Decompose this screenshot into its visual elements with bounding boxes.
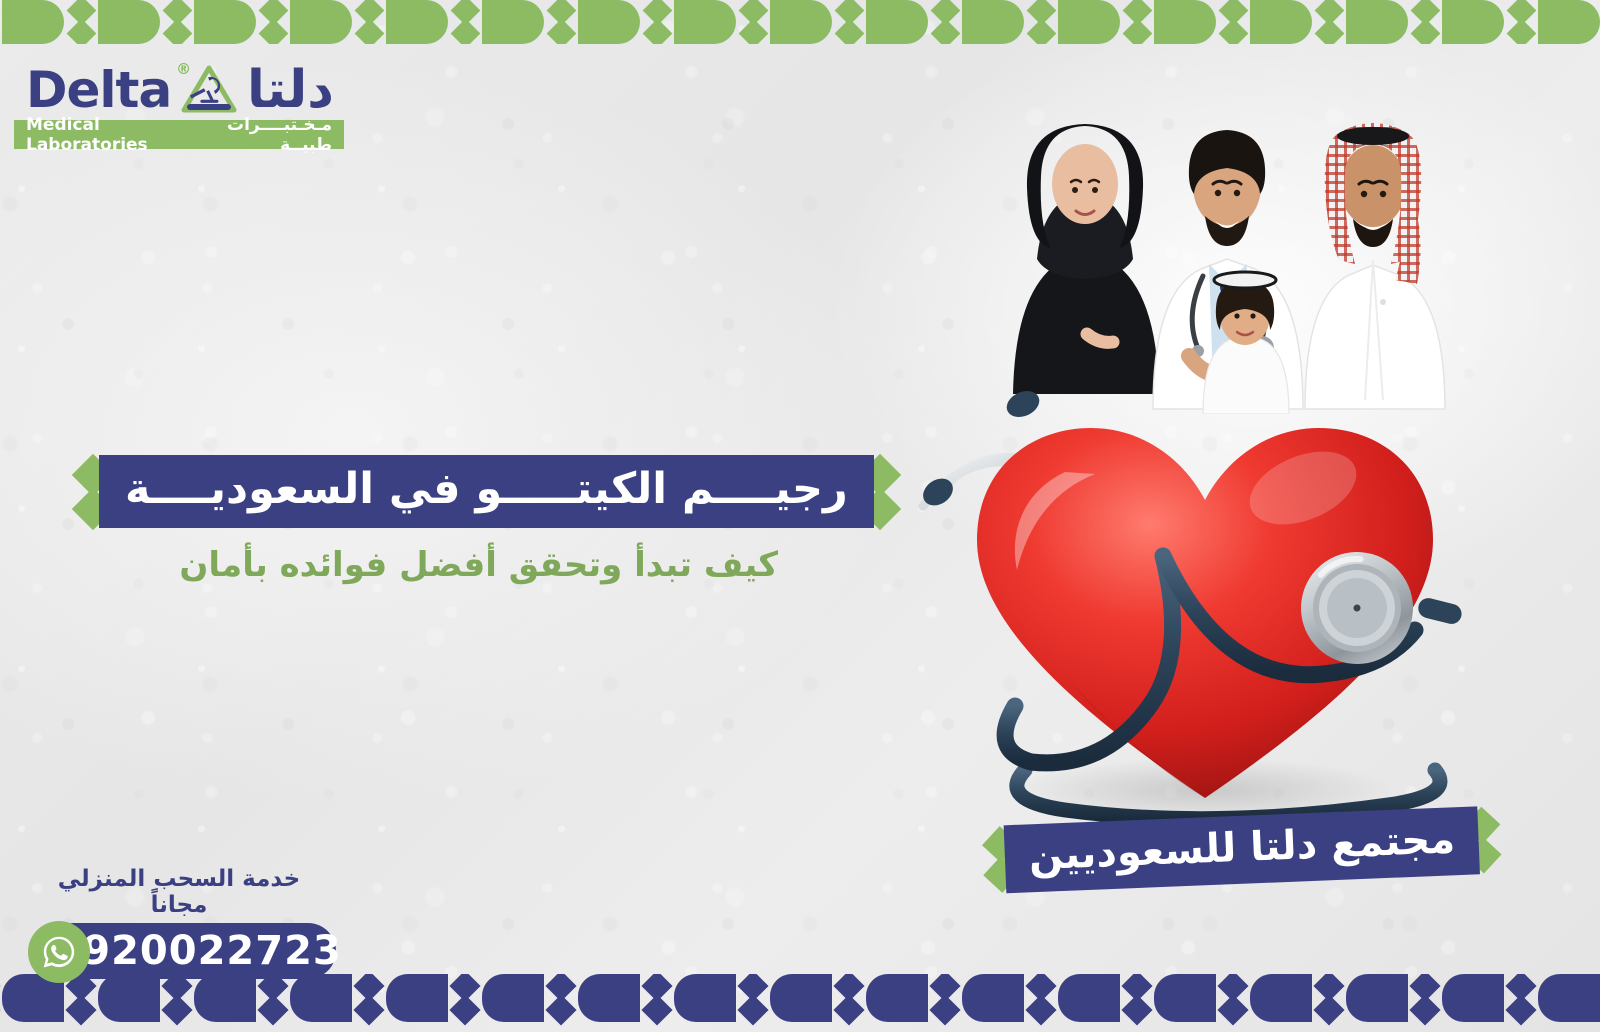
border-motif-diamonds (64, 0, 98, 44)
border-motif-diamonds (160, 974, 194, 1022)
border-motif-block (674, 0, 736, 44)
whatsapp-icon[interactable] (28, 921, 90, 983)
border-motif-diamonds (1216, 0, 1250, 44)
border-motif-diamond (0, 994, 1, 1025)
border-motif-diamond (546, 19, 576, 44)
logo-tagline-english: Medical Laboratories (26, 115, 195, 155)
top-decorative-border (0, 0, 1600, 44)
border-motif-diamonds (1312, 974, 1346, 1022)
border-motif-diamonds (1504, 0, 1538, 44)
border-motif-diamonds (1120, 0, 1154, 44)
border-motif-block (98, 0, 160, 44)
border-motif-diamonds (352, 0, 386, 44)
border-motif-diamond (258, 19, 288, 44)
border-motif-diamonds (1504, 974, 1538, 1022)
border-motif-block (1250, 974, 1312, 1022)
border-motif-block (866, 0, 928, 44)
border-motif-block (2, 0, 64, 44)
border-motif-block (1154, 974, 1216, 1022)
border-motif-unit (1408, 0, 1504, 44)
border-motif-diamonds (1024, 974, 1058, 1022)
border-motif-diamonds (928, 0, 962, 44)
border-motif-diamond (929, 994, 960, 1025)
border-motif-diamonds (544, 0, 578, 44)
border-motif-unit (352, 0, 448, 44)
brand-logo: Delta ® دلتا مـخـتبــــرات طبيــة Medica… (14, 62, 344, 149)
border-motif-unit (1504, 0, 1600, 44)
headline-subtitle: كيف تبدأ وتحقق أفضل فوائده بأمان (78, 545, 778, 585)
border-motif-unit (1216, 0, 1312, 44)
border-motif-diamond (545, 994, 576, 1025)
border-motif-unit (448, 0, 544, 44)
border-motif-unit (1024, 974, 1120, 1022)
border-motif-unit (1312, 974, 1408, 1022)
border-motif-block (290, 974, 352, 1022)
border-motif-block (578, 0, 640, 44)
border-motif-unit (1504, 974, 1600, 1022)
headline-text: رجيــــم الكيتـــــو في السعوديــــة (99, 455, 874, 528)
border-motif-block (1442, 0, 1504, 44)
border-motif-diamonds (1120, 974, 1154, 1022)
home-service-label: خدمة السحب المنزلي مجاناً (28, 866, 348, 918)
border-motif-block (194, 974, 256, 1022)
border-motif-unit (1312, 0, 1408, 44)
border-motif-unit (544, 0, 640, 44)
border-motif-diamond (257, 994, 288, 1025)
border-motif-diamonds (1408, 0, 1442, 44)
border-motif-diamond (354, 19, 384, 44)
border-motif-diamond (1506, 19, 1536, 44)
border-motif-unit (352, 974, 448, 1022)
border-motif-unit (1216, 974, 1312, 1022)
border-motif-diamonds (544, 974, 578, 1022)
border-motif-diamonds (1408, 974, 1442, 1022)
border-motif-diamonds (448, 0, 482, 44)
border-motif-block (482, 0, 544, 44)
border-motif-block (1538, 0, 1600, 44)
border-motif-diamonds (448, 974, 482, 1022)
border-motif-diamond (1409, 994, 1440, 1025)
border-motif-diamond (1217, 994, 1248, 1025)
border-motif-diamonds (256, 0, 290, 44)
border-motif-diamond (1313, 994, 1344, 1025)
border-motif-diamond (353, 994, 384, 1025)
border-motif-diamond (930, 19, 960, 44)
border-motif-diamonds (736, 974, 770, 1022)
border-motif-diamond (642, 19, 672, 44)
border-motif-diamonds (832, 0, 866, 44)
border-motif-diamonds (160, 0, 194, 44)
border-motif-block (1058, 974, 1120, 1022)
border-motif-diamonds (640, 0, 674, 44)
border-motif-unit (832, 974, 928, 1022)
border-motif-block (770, 0, 832, 44)
border-motif-diamonds (1216, 974, 1250, 1022)
border-motif-diamond (1410, 19, 1440, 44)
border-motif-diamond (737, 994, 768, 1025)
border-motif-block (1154, 0, 1216, 44)
border-motif-unit (448, 974, 544, 1022)
border-motif-diamonds (352, 974, 386, 1022)
border-motif-diamond (449, 994, 480, 1025)
border-motif-block (290, 0, 352, 44)
border-motif-diamonds (1024, 0, 1058, 44)
border-motif-unit (256, 974, 352, 1022)
border-motif-block (1250, 0, 1312, 44)
border-motif-unit (1120, 974, 1216, 1022)
border-motif-unit (160, 0, 256, 44)
border-motif-block (962, 0, 1024, 44)
border-motif-diamonds (0, 974, 2, 1022)
border-motif-block (866, 974, 928, 1022)
border-motif-unit (64, 974, 160, 1022)
border-motif-unit (544, 974, 640, 1022)
border-motif-block (386, 974, 448, 1022)
headline-banner: رجيــــم الكيتـــــو في السعوديــــة (78, 455, 895, 528)
logo-arabic-name: دلتا (247, 64, 334, 116)
border-motif-diamond (834, 19, 864, 44)
logo-latin-name: Delta (26, 65, 171, 115)
border-motif-block (1346, 974, 1408, 1022)
contact-block: خدمة السحب المنزلي مجاناً 920022723 (28, 866, 348, 985)
border-motif-diamond (1218, 19, 1248, 44)
border-motif-block (674, 974, 736, 1022)
border-motif-block (194, 0, 256, 44)
border-motif-diamonds (736, 0, 770, 44)
border-motif-diamonds (256, 974, 290, 1022)
border-motif-unit (736, 974, 832, 1022)
border-motif-diamond (450, 19, 480, 44)
border-motif-block (98, 974, 160, 1022)
poster-canvas: Delta ® دلتا مـخـتبــــرات طبيــة Medica… (0, 0, 1600, 1032)
border-motif-diamond (1314, 19, 1344, 44)
bottom-decorative-border (0, 974, 1600, 1032)
border-motif-diamond (161, 994, 192, 1025)
border-motif-diamond (1026, 19, 1056, 44)
heart-with-stethoscope-illustration (905, 360, 1505, 830)
border-motif-diamond (162, 19, 192, 44)
border-motif-diamond (66, 19, 96, 44)
border-motif-unit (640, 974, 736, 1022)
border-motif-block (1538, 974, 1600, 1022)
border-motif-block (482, 974, 544, 1022)
border-motif-diamond (65, 994, 96, 1025)
border-motif-block (770, 974, 832, 1022)
border-motif-block (1058, 0, 1120, 44)
border-motif-diamond (738, 19, 768, 44)
logo-tagline-arabic: مـخـتبــــرات طبيــة (195, 115, 332, 155)
border-motif-block (1346, 0, 1408, 44)
border-motif-diamond (1025, 994, 1056, 1025)
border-motif-diamonds (928, 974, 962, 1022)
logo-tagline-bar: مـخـتبــــرات طبيــة Medical Laboratorie… (14, 120, 344, 149)
border-motif-block (578, 974, 640, 1022)
border-motif-diamond (641, 994, 672, 1025)
border-motif-diamond (0, 974, 1, 1002)
border-motif-unit (160, 974, 256, 1022)
border-motif-unit (1408, 974, 1504, 1022)
border-motif-diamonds (640, 974, 674, 1022)
border-motif-unit (928, 974, 1024, 1022)
border-motif-unit (256, 0, 352, 44)
border-motif-block (962, 974, 1024, 1022)
border-motif-diamonds (1312, 0, 1346, 44)
border-motif-diamond (1122, 19, 1152, 44)
border-motif-unit (640, 0, 736, 44)
border-motif-unit (1120, 0, 1216, 44)
border-motif-unit (64, 0, 160, 44)
microscope-in-triangle-icon: ® (180, 62, 238, 118)
border-motif-diamond (1121, 994, 1152, 1025)
registered-mark: ® (176, 60, 191, 78)
border-motif-unit (928, 0, 1024, 44)
border-motif-unit (0, 0, 64, 44)
border-motif-diamond (1505, 994, 1536, 1025)
border-motif-unit (736, 0, 832, 44)
border-motif-block (1442, 974, 1504, 1022)
border-motif-block (386, 0, 448, 44)
border-motif-diamonds (0, 0, 2, 44)
border-motif-diamond (833, 994, 864, 1025)
border-motif-unit (1024, 0, 1120, 44)
border-motif-diamonds (832, 974, 866, 1022)
border-motif-unit (832, 0, 928, 44)
figure-woman (1013, 124, 1159, 394)
